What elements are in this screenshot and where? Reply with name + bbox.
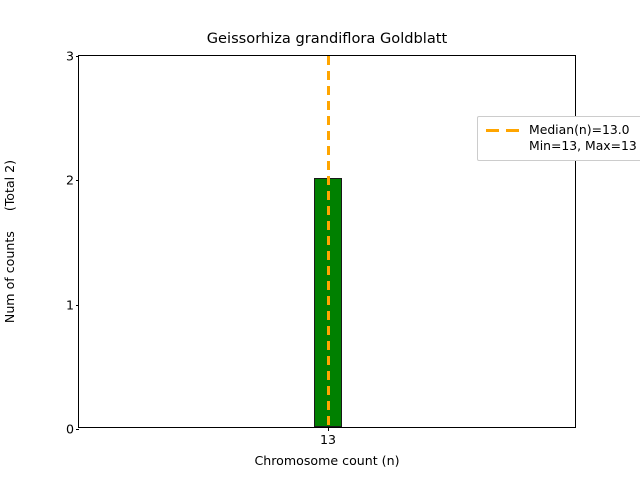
x-axis-label: Chromosome count (n): [78, 453, 576, 468]
median-line: [327, 56, 330, 427]
ytick-mark-2: [76, 180, 80, 181]
ytick-label-0: 0: [66, 423, 74, 436]
matplotlib-figure: Geissorhiza grandiflora Goldblatt 3 2 1 …: [0, 0, 640, 480]
ytick-label-2: 2: [66, 174, 74, 187]
ytick-mark-1: [76, 305, 80, 306]
xtick-label-13: 13: [320, 433, 336, 447]
legend: Median(n)=13.0 Min=13, Max=13: [477, 116, 640, 161]
legend-entry-range: Min=13, Max=13: [485, 138, 637, 154]
ytick-mark-0: [76, 429, 80, 430]
dashed-line-icon: [485, 123, 521, 137]
legend-entry-median: Median(n)=13.0: [485, 122, 637, 138]
page-title: Geissorhiza grandiflora Goldblatt: [78, 30, 576, 48]
plot-inner-canvas: [79, 56, 575, 427]
ytick-label-3: 3: [66, 50, 74, 63]
ytick-label-1: 1: [66, 298, 74, 311]
xtick-mark-13: [328, 427, 329, 431]
legend-label-range: Min=13, Max=13: [529, 138, 637, 154]
legend-label-median: Median(n)=13.0: [529, 122, 630, 138]
plot-area: 3 2 1 0 13 Median(n)=13.0 Min=1: [78, 55, 576, 428]
ytick-mark-3: [76, 56, 80, 57]
y-axis-label: Num of counts (Total 2): [0, 55, 20, 428]
